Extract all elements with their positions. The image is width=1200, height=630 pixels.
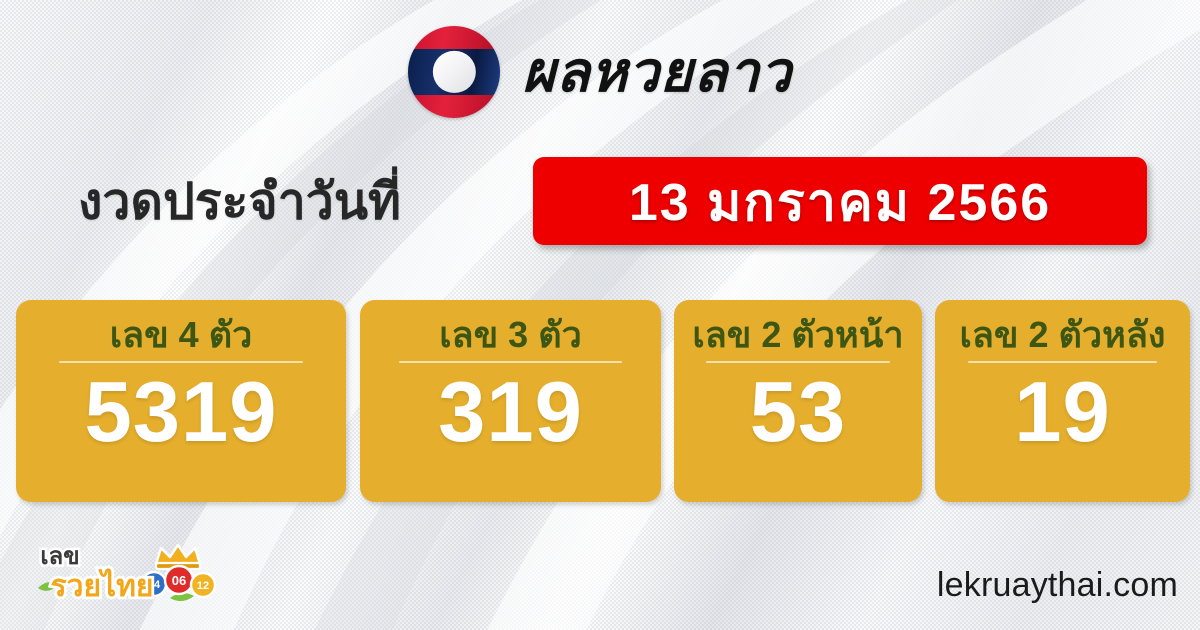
svg-text:12: 12 [197, 580, 209, 592]
page-stage: ผลหวยลาว งวดประจำวันที่ 13 มกราคม 2566 เ… [0, 0, 1200, 630]
result-card-divider [706, 361, 890, 363]
svg-text:เลข: เลข [40, 543, 79, 570]
page-title: ผลหวยลาว [522, 43, 792, 102]
site-header: ผลหวยลาว [0, 26, 1200, 118]
result-card-2-digit-front: เลข 2 ตัวหน้า 53 [674, 300, 922, 502]
draw-date-label: งวดประจำวันที่ [78, 163, 401, 242]
draw-date-banner: 13 มกราคม 2566 [533, 157, 1147, 245]
result-card-number: 319 [438, 365, 583, 460]
results-cards: เลข 4 ตัว 5319 เลข 3 ตัว 319 เลข 2 ตัวหน… [0, 300, 1200, 502]
result-card-number: 5319 [84, 365, 277, 460]
draw-date-value: 13 มกราคม 2566 [629, 160, 1051, 243]
svg-text:06: 06 [172, 573, 186, 588]
laos-flag-circle-icon [408, 26, 500, 118]
result-card-divider [399, 361, 622, 363]
result-card-3-digit: เลข 3 ตัว 319 [360, 300, 661, 502]
result-card-label: เลข 2 ตัวหน้า [692, 314, 903, 355]
draw-date-row: งวดประจำวันที่ 13 มกราคม 2566 [0, 152, 1200, 252]
flag-band-top [408, 26, 500, 49]
result-card-number: 19 [1014, 365, 1111, 460]
result-card-4-digit: เลข 4 ตัว 5319 [16, 300, 346, 502]
result-card-2-digit-back: เลข 2 ตัวหลัง 19 [935, 300, 1190, 502]
result-card-label: เลข 4 ตัว [110, 314, 253, 355]
result-card-divider [59, 361, 303, 363]
lek-ruay-thai-logo-icon: 14 06 12 เลข รวยไทย [30, 534, 230, 612]
svg-text:รวยไทย: รวยไทย [51, 568, 154, 603]
result-card-label: เลข 3 ตัว [439, 314, 582, 355]
result-card-label: เลข 2 ตัวหลัง [960, 314, 1166, 355]
site-url: lekruaythai.com [937, 566, 1178, 605]
result-card-number: 53 [750, 365, 847, 460]
flag-band-bottom [408, 95, 500, 118]
result-card-divider [968, 361, 1157, 363]
